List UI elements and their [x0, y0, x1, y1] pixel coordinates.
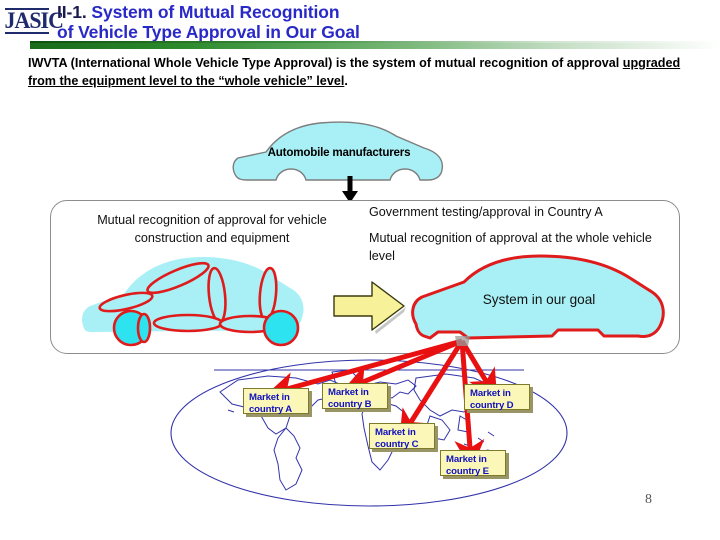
title-rule — [30, 43, 720, 49]
lead-paragraph: IWVTA (International Whole Vehicle Type … — [28, 55, 693, 90]
page-title-line2: of Vehicle Type Approval in Our Goal — [57, 22, 360, 42]
market-box-line2: country D — [470, 400, 525, 412]
market-box[interactable]: Market in country C — [369, 423, 435, 449]
market-box-line1: Market in — [375, 427, 430, 439]
transition-arrow-icon — [328, 276, 410, 336]
page-title-line1: System of Mutual Recognition — [87, 2, 340, 22]
lead-part1: IWVTA (International Whole Vehicle Type … — [28, 56, 623, 70]
market-box-line1: Market in — [446, 454, 501, 466]
slide-canvas: JASIC II-1. System of Mutual Recognition… — [0, 0, 720, 540]
market-box-line1: Market in — [328, 387, 383, 399]
market-box-line2: country A — [249, 404, 304, 416]
page-number: 8 — [645, 492, 652, 508]
right-caption-1: Government testing/approval in Country A — [369, 203, 689, 221]
market-box-line2: country C — [375, 439, 430, 451]
goal-car-label: System in our goal — [408, 292, 670, 307]
logo-text: JASIC — [5, 8, 63, 34]
market-box-line1: Market in — [470, 388, 525, 400]
left-caption: Mutual recognition of approval for vehic… — [72, 211, 352, 247]
market-box[interactable]: Market in country E — [440, 450, 506, 476]
page-title-number: II-1. — [57, 2, 87, 22]
market-box[interactable]: Market in country A — [243, 388, 309, 414]
top-car-label: Automobile manufacturers — [228, 146, 450, 159]
lead-part2: . — [344, 74, 348, 88]
page-title: II-1. System of Mutual Recognition of Ve… — [57, 3, 697, 42]
jasic-logo: JASIC — [3, 5, 51, 39]
market-box-line1: Market in — [249, 392, 304, 404]
market-box[interactable]: Market in country B — [322, 383, 388, 409]
component-level-car-diagram — [78, 248, 308, 348]
logo-rule-bottom — [5, 32, 49, 34]
market-box[interactable]: Market in country D — [464, 384, 530, 410]
market-box-line2: country B — [328, 399, 383, 411]
market-box-line2: country E — [446, 466, 501, 478]
